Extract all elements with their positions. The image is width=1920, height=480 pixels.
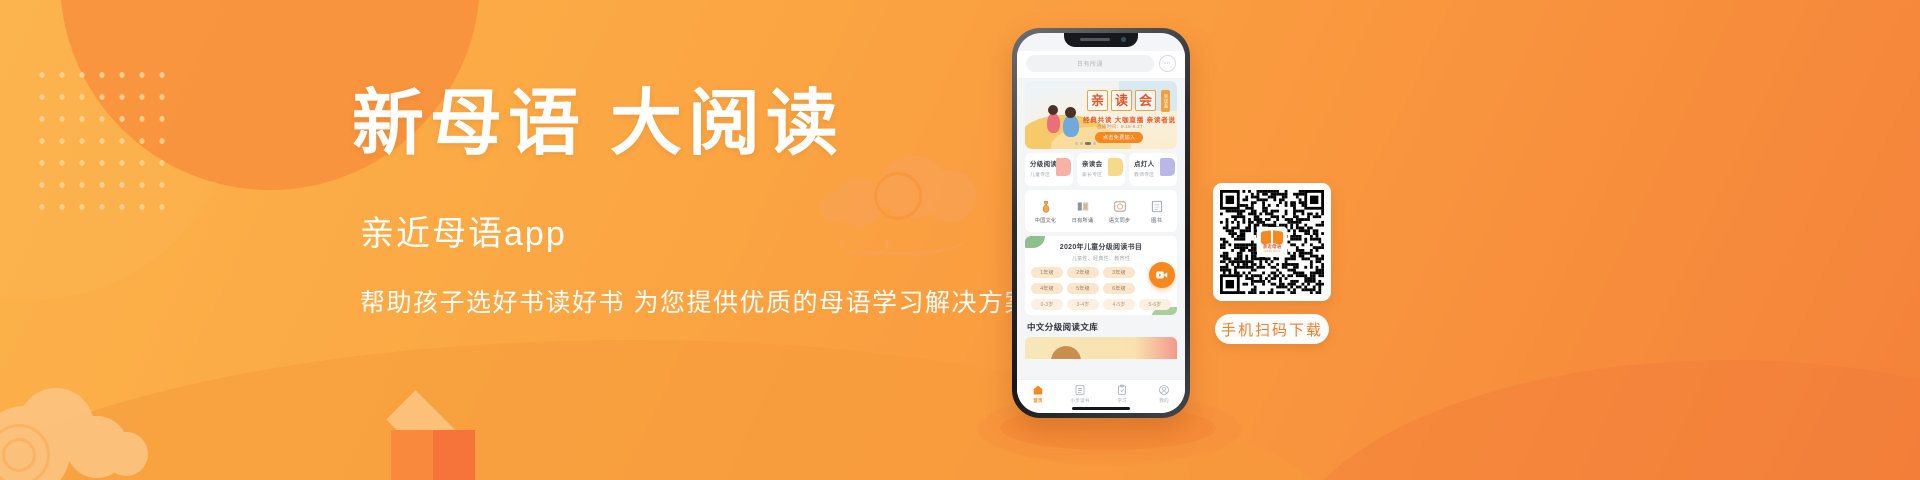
page-title: 新母语 大阅读 (352, 86, 1012, 162)
promo-banner: 新母语 大阅读 亲近母语app 帮助孩子选好书读好书 为您提供优质的母语学习解决… (0, 0, 1920, 480)
carousel-dot[interactable] (1080, 142, 1083, 145)
user-circle-icon (1158, 384, 1170, 396)
age-chip[interactable]: 5-6岁 (1139, 299, 1171, 310)
quick-links-row: 中国文化 日有所诵 (1025, 190, 1177, 232)
library-section-title: 中文分级阅读文库 (1027, 321, 1175, 333)
phone-screen-area: 日有所诵 ⋯ (1017, 33, 1185, 413)
speaker-grill (1080, 38, 1110, 41)
promo-title: 亲 读 会 亲读会 (1087, 90, 1170, 112)
grade-chip[interactable]: 2年级 (1067, 267, 1099, 278)
quick-link-label: 语文同步 (1109, 217, 1131, 224)
banner-tagline: 帮助孩子选好书读好书 为您提供优质的母语学习解决方案 (360, 283, 1012, 319)
list-icon (1074, 384, 1086, 396)
app-promo-card[interactable]: 亲 读 会 亲读会 经典共读 大咖直播 亲读者说 直播时间：9.16-9.27 … (1025, 81, 1177, 149)
phone-frame: 日有所诵 ⋯ (1012, 28, 1190, 418)
carousel-dot-active[interactable] (1085, 142, 1091, 145)
promo-seal-badge: 亲读会 (1161, 90, 1170, 112)
app-screen: 日有所诵 ⋯ (1017, 33, 1185, 413)
open-book-icon (1076, 199, 1090, 214)
search-input[interactable]: 日有所诵 (1026, 55, 1154, 72)
grade-card-subtitle: 儿童性、经典性、教育性 (1031, 255, 1171, 262)
grade-chip[interactable]: 5年级 (1067, 283, 1099, 294)
promo-cta-button[interactable]: 点击免费加入 (1095, 132, 1143, 143)
qr-download-block: 亲近母语 QINJIN MUYU 手机扫码下载 (1213, 183, 1331, 344)
tab-study[interactable]: 学习 (1104, 384, 1140, 404)
app-search-row: 日有所诵 ⋯ (1017, 51, 1185, 78)
grade-list-card: 2020年儿童分级阅读书目 儿童性、经典性、教育性 1年级 2年级 3年级 4年… (1025, 236, 1177, 315)
clipboard-check-icon (1116, 384, 1128, 396)
banner-copy: 新母语 大阅读 亲近母语app 帮助孩子选好书读好书 为您提供优质的母语学习解决… (352, 86, 1012, 319)
logo-text: 亲近母语 (1263, 245, 1281, 249)
quick-link-chinese-sync[interactable]: 语文同步 (1101, 199, 1138, 224)
carousel-dot[interactable] (1075, 142, 1078, 145)
document-icon (1150, 199, 1164, 214)
grade-chip[interactable]: 6年级 (1103, 283, 1135, 294)
zone-card-row: 分级阅读 儿童专区 亲读会 家长专区 点灯人 教师专区 (1025, 153, 1177, 186)
tab-label: 学习 (1117, 398, 1127, 404)
logo-subtext: QINJIN MUYU (1264, 251, 1281, 253)
promo-date: 直播时间：9.16-9.27 (1097, 124, 1143, 130)
promo-title-char: 会 (1135, 90, 1156, 111)
brand-logo: 亲近母语 QINJIN MUYU (1257, 227, 1287, 257)
grade-chip[interactable]: 1年级 (1031, 267, 1063, 278)
grade-row-preschool: 0-3岁 3-4岁 4-5岁 5-6岁 (1031, 299, 1171, 310)
zone-card-graded-reading[interactable]: 分级阅读 儿童专区 (1025, 153, 1073, 186)
carousel-dot[interactable] (1093, 142, 1096, 145)
background-blob-left (0, 0, 240, 300)
carousel-dots[interactable] (1075, 142, 1096, 145)
promo-child-illustration-1 (1047, 113, 1060, 133)
book-red-icon (1056, 158, 1071, 176)
zone-card-teacher[interactable]: 点灯人 教师专区 (1129, 153, 1177, 186)
promo-title-char: 亲 (1087, 90, 1108, 111)
phone-mockup: 日有所诵 ⋯ (1012, 28, 1202, 448)
tab-label: 小步读书 (1070, 398, 1089, 404)
front-camera-icon (1121, 37, 1126, 42)
quick-link-label: 图书 (1151, 217, 1162, 224)
background-hill-arc-right (1280, 360, 1920, 480)
promo-subtitle: 经典共读 大咖直播 亲读者说 (1083, 114, 1176, 124)
phone-notch (1064, 33, 1138, 47)
more-horizontal-icon[interactable]: ⋯ (1159, 55, 1176, 72)
dot-grid-decoration (30, 62, 172, 214)
tab-profile[interactable]: 我的 (1146, 384, 1182, 404)
library-card[interactable] (1025, 337, 1177, 359)
vase-icon (1039, 199, 1053, 214)
grade-card-title: 2020年儿童分级阅读书目 (1031, 242, 1171, 252)
grade-chip[interactable]: 3年级 (1103, 267, 1135, 278)
book-purple-icon (1160, 158, 1175, 176)
promo-child-illustration-2 (1063, 115, 1079, 137)
tab-label: 我的 (1159, 398, 1169, 404)
auspicious-cloud-icon (0, 388, 158, 480)
home-indicator (1072, 407, 1130, 410)
quick-link-label: 中国文化 (1035, 217, 1057, 224)
tab-label: 首页 (1033, 398, 1043, 404)
quick-link-books[interactable]: 图书 (1138, 199, 1175, 224)
book-yellow-icon (1108, 158, 1123, 176)
circle-sync-icon (1113, 199, 1127, 214)
qr-code[interactable]: 亲近母语 QINJIN MUYU (1213, 183, 1331, 301)
quick-link-label: 日有所诵 (1072, 217, 1094, 224)
grade-row-primary-2: 4年级 5年级 6年级 (1031, 283, 1171, 294)
download-button[interactable]: 手机扫码下载 (1215, 314, 1329, 344)
zone-card-parent[interactable]: 亲读会 家长专区 (1077, 153, 1125, 186)
promo-title-char: 读 (1111, 90, 1132, 111)
home-icon (1032, 384, 1044, 396)
library-card-illustration (1051, 346, 1081, 359)
age-chip[interactable]: 0-3岁 (1031, 299, 1063, 310)
tab-reading[interactable]: 小步读书 (1062, 384, 1098, 404)
quick-link-daily-recite[interactable]: 日有所诵 (1064, 199, 1101, 224)
video-play-icon[interactable] (1149, 262, 1175, 288)
book-logo-icon (1261, 231, 1283, 244)
age-chip[interactable]: 4-5岁 (1103, 299, 1135, 310)
age-chip[interactable]: 3-4岁 (1067, 299, 1099, 310)
tab-home[interactable]: 首页 (1020, 384, 1056, 404)
grade-chip[interactable]: 4年级 (1031, 283, 1063, 294)
app-name-subtitle: 亲近母语app (360, 206, 1012, 255)
quick-link-chinese-culture[interactable]: 中国文化 (1027, 199, 1064, 224)
isometric-cube-decoration (372, 394, 492, 480)
search-placeholder: 日有所诵 (1077, 59, 1103, 68)
